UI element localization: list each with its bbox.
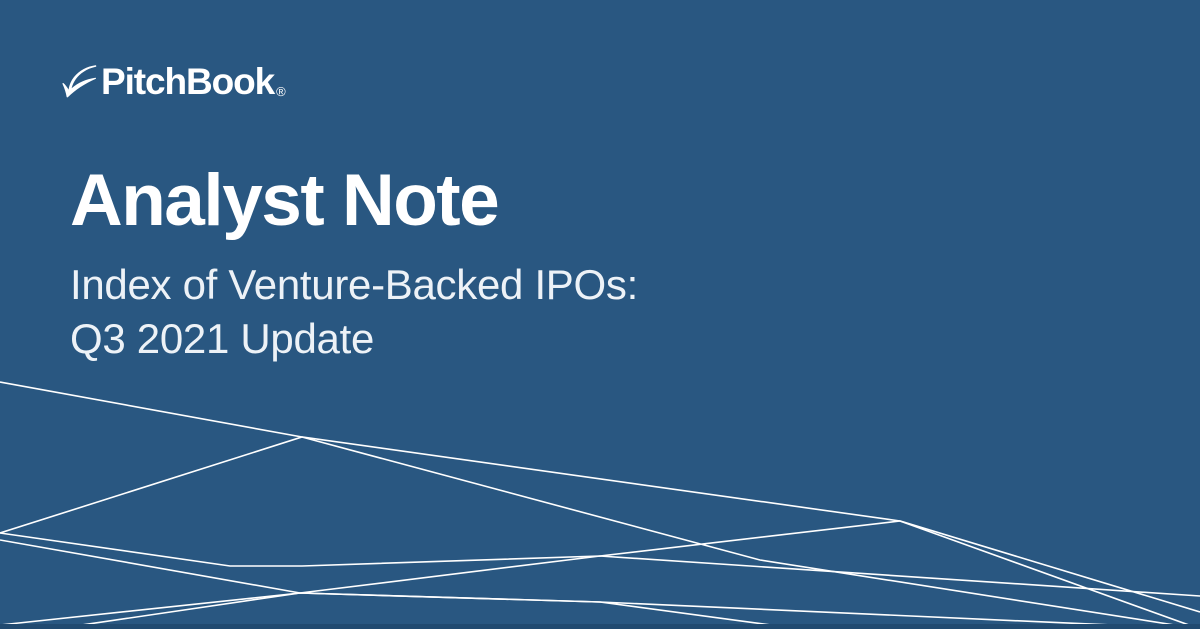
registered-trademark-symbol: ® — [276, 85, 286, 98]
page-subtitle-line-2: Q3 2021 Update — [70, 312, 970, 366]
pitchbook-wordmark: PitchBook — [101, 63, 274, 100]
decoration-polyline-1 — [0, 382, 1200, 629]
bottom-rule — [0, 624, 1200, 629]
decoration-polyline-3 — [0, 521, 1200, 612]
pitchbook-logo: PitchBook ® — [62, 54, 286, 100]
decoration-polyline-5 — [0, 533, 1200, 596]
cover-page: PitchBook ® Analyst Note Index of Ventur… — [0, 0, 1200, 629]
page-title: Analyst Note — [70, 160, 970, 242]
cover-text-block: Analyst Note Index of Venture-Backed IPO… — [70, 160, 970, 366]
page-subtitle-line-1: Index of Venture-Backed IPOs: — [70, 258, 970, 312]
page-subtitle: Index of Venture-Backed IPOs: Q3 2021 Up… — [70, 258, 970, 366]
decoration-polyline-2 — [0, 437, 1200, 629]
pitchbook-book-swoosh-icon — [62, 64, 98, 98]
